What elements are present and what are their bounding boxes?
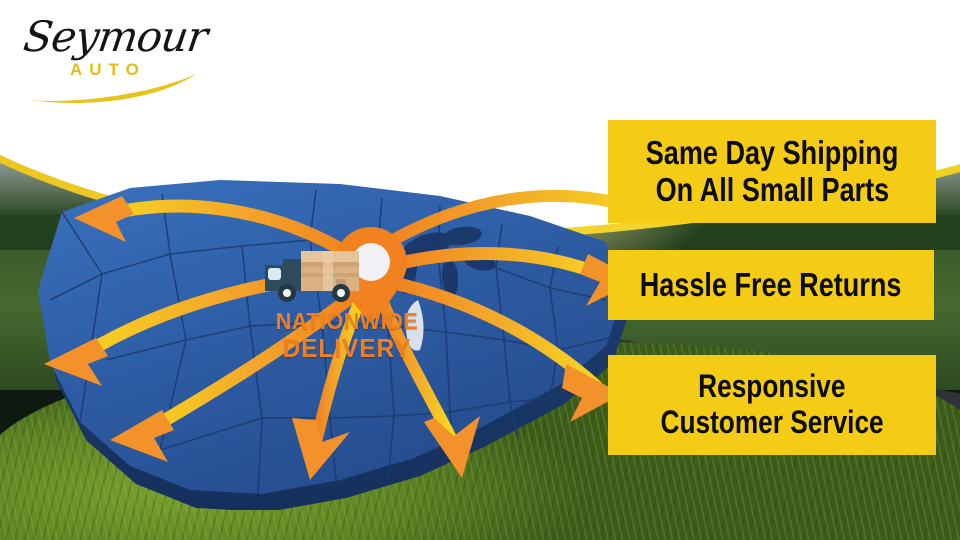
banner-responsive-customer-service[interactable]: Responsive Customer Service — [608, 355, 936, 455]
nationwide-delivery-text: NATIONWIDE DELIVERY — [252, 310, 442, 361]
nationwide-delivery-badge: NATIONWIDE DELIVERY — [255, 215, 455, 385]
banner-hassle-free-returns[interactable]: Hassle Free Returns — [608, 250, 934, 320]
seymour-auto-logo[interactable]: Seymour AUTO — [18, 14, 208, 100]
promo-banner-slide: Seymour AUTO — [0, 0, 960, 540]
delivery-headline-line1: NATIONWIDE — [258, 310, 437, 333]
logo-auto-text: AUTO — [70, 60, 146, 80]
delivery-headline-line2: DELIVERY — [258, 335, 437, 361]
banner-3-line1: Responsive — [698, 369, 845, 405]
logo-script-text: Seymour — [21, 12, 210, 61]
banner-2-line1: Hassle Free Returns — [640, 267, 902, 304]
banner-1-line2: On All Small Parts — [655, 172, 889, 209]
banner-same-day-shipping[interactable]: Same Day Shipping On All Small Parts — [608, 120, 936, 223]
banner-1-line1: Same Day Shipping — [646, 135, 899, 172]
delivery-truck-icon — [263, 243, 373, 305]
banner-3-line2: Customer Service — [660, 405, 883, 441]
